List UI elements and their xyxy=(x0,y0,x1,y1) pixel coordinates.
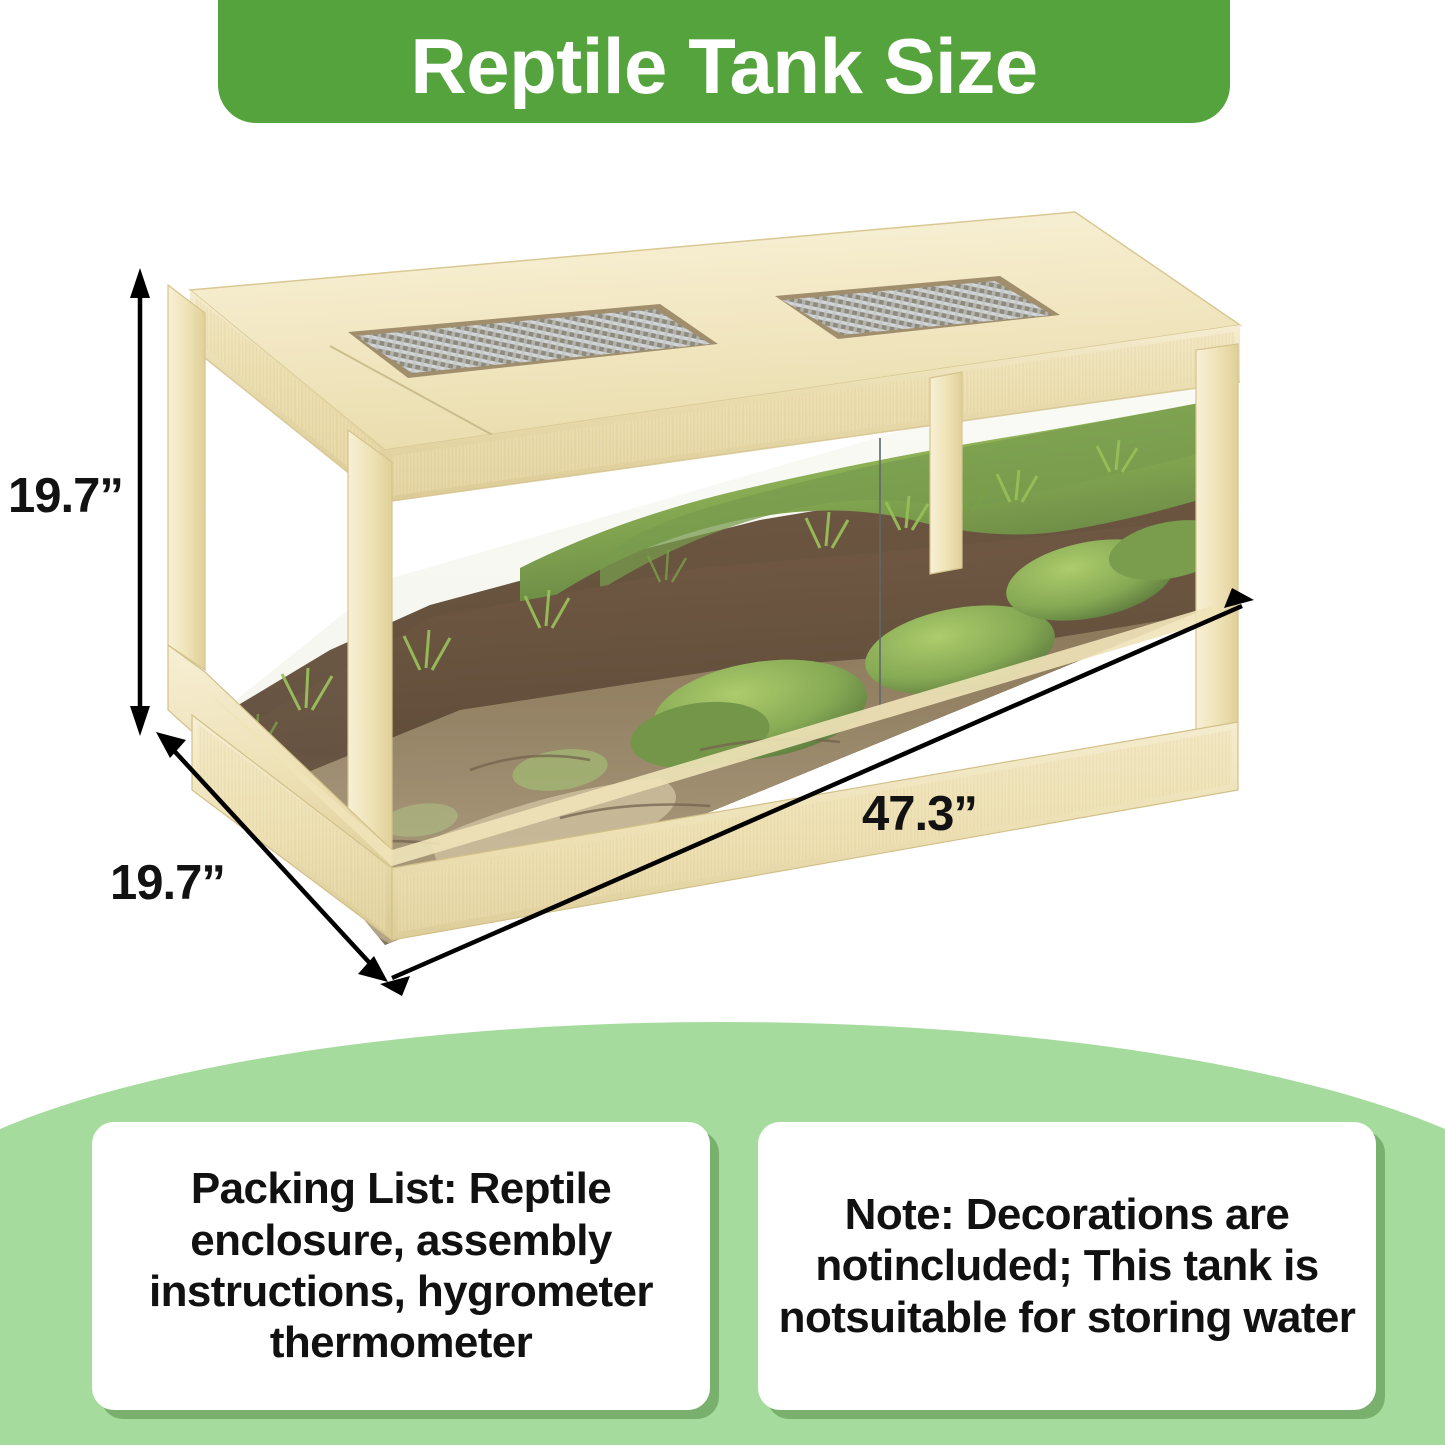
product-infographic: Reptile Tank Size xyxy=(0,0,1445,1445)
packing-list-card: Packing List: Reptile enclosure, assembl… xyxy=(92,1122,710,1410)
header-banner: Reptile Tank Size xyxy=(218,0,1230,123)
packing-list-text: Packing List: Reptile enclosure, assembl… xyxy=(112,1163,690,1369)
dimension-label-height: 19.7” xyxy=(8,468,123,524)
note-text: Note: Decorations are notincluded; This … xyxy=(778,1189,1356,1343)
dimension-label-width: 47.3” xyxy=(862,786,977,842)
note-card: Note: Decorations are notincluded; This … xyxy=(758,1122,1376,1410)
dimension-label-depth: 19.7” xyxy=(110,855,225,911)
page-title: Reptile Tank Size xyxy=(410,27,1037,105)
